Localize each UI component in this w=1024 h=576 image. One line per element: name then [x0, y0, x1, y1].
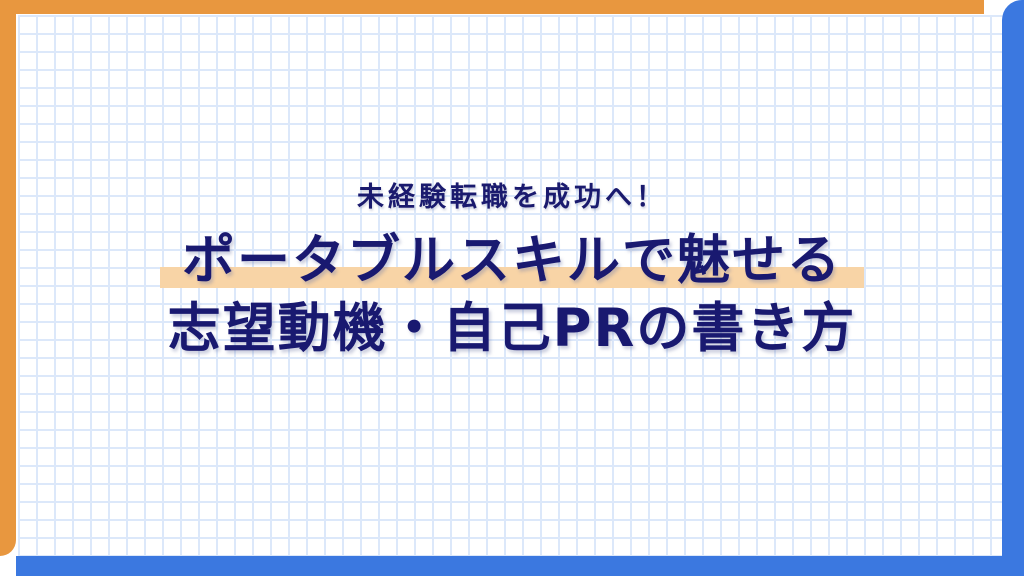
- slide-subtitle: 未経験転職を成功へ！: [357, 183, 667, 213]
- slide-canvas: 未経験転職を成功へ！ ポータブルスキルで魅せる 志望動機・自己PRの書き方: [0, 0, 1024, 576]
- headline-line-1: ポータブルスキルで魅せる: [168, 227, 857, 295]
- slide-content: 未経験転職を成功へ！ ポータブルスキルで魅せる 志望動機・自己PRの書き方: [0, 0, 1024, 576]
- headline-line-2: 志望動機・自己PRの書き方: [168, 295, 857, 363]
- headline-line-1-text: ポータブルスキルで魅せる: [182, 230, 842, 291]
- slide-headline: ポータブルスキルで魅せる 志望動機・自己PRの書き方: [168, 227, 857, 363]
- headline-line-2-text: 志望動機・自己PRの書き方: [168, 298, 857, 359]
